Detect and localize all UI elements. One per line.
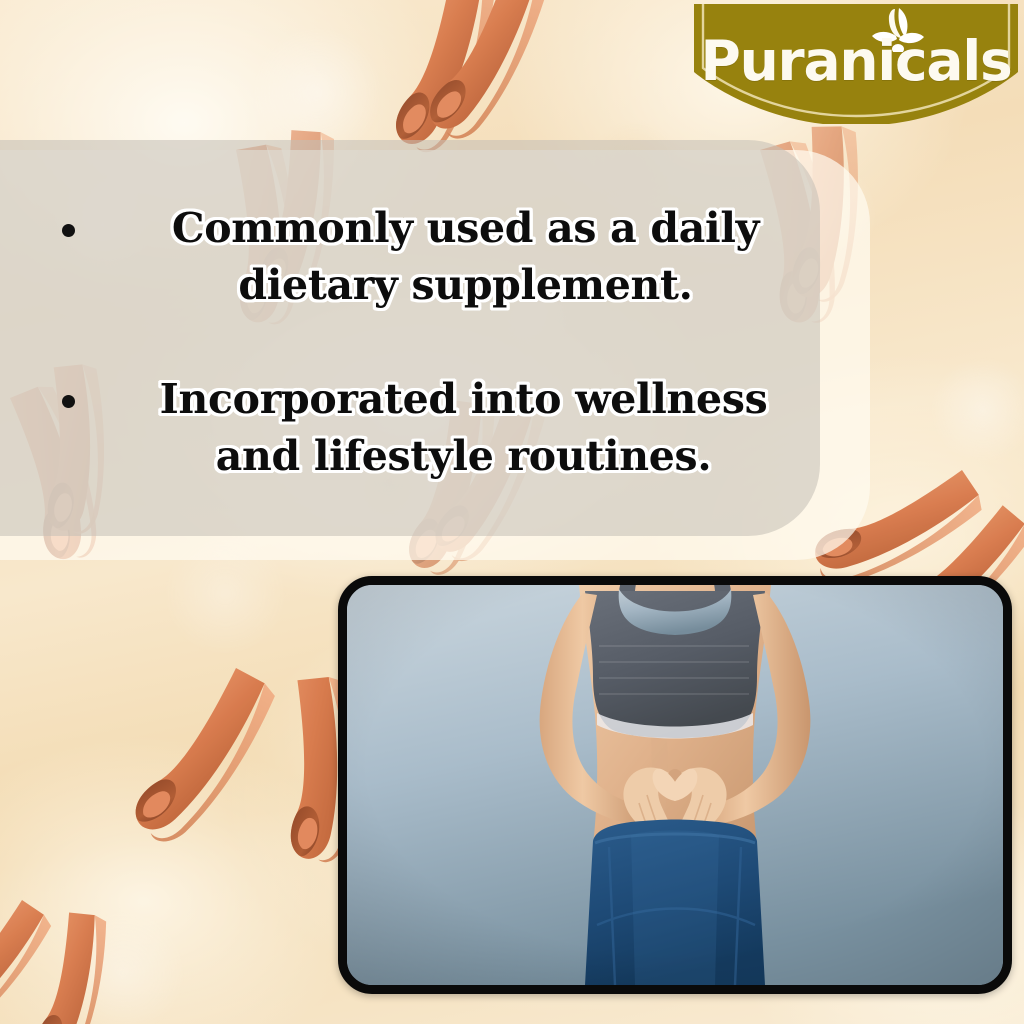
lifestyle-photo-frame [338,576,1012,994]
bullet-marker-icon [62,395,75,408]
benefits-bullet-list: Commonly used as a daily dietary supplem… [0,152,880,532]
brand-wordmark: Puranicals [694,34,1018,89]
bullet-text: Commonly used as a daily dietary supplem… [133,200,820,313]
bullet-text: Incorporated into wellness and lifestyle… [129,371,820,484]
brand-logo-badge[interactable]: Puranicals [694,4,1018,124]
list-item: Incorporated into wellness and lifestyle… [44,371,820,484]
poster-canvas: Puranicals Commonly used as a daily diet… [0,0,1024,1024]
bullet-marker-icon [62,224,75,237]
lifestyle-photo [347,585,1003,985]
list-item: Commonly used as a daily dietary supplem… [44,200,820,313]
